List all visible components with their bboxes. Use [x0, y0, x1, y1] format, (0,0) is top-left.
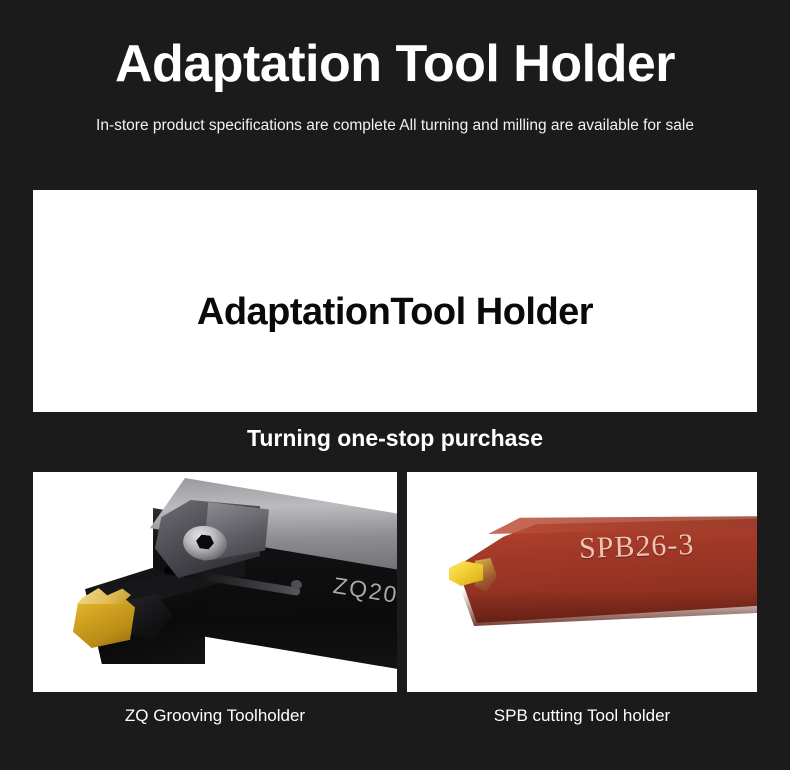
product-photo-zq: ZQ20 [33, 472, 397, 692]
product-photo-spb: SPB26-3 [407, 472, 757, 692]
product-caption-spb: SPB cutting Tool holder [407, 707, 757, 724]
mid-caption: Turning one-stop purchase [0, 427, 790, 450]
spb-toolholder-illustration: SPB26-3 [407, 472, 757, 692]
page-subtitle: In-store product specifications are comp… [0, 118, 790, 134]
feature-panel: AdaptationTool Holder [33, 190, 757, 412]
spb-engraved-marking: SPB26-3 [578, 528, 694, 566]
product-caption-zq: ZQ Grooving Toolholder [33, 707, 397, 724]
page-title: Adaptation Tool Holder [0, 38, 790, 90]
spb-bottom-shadow [461, 590, 757, 626]
product-banner: Adaptation Tool Holder In-store product … [0, 0, 790, 770]
feature-panel-headline: AdaptationTool Holder [33, 190, 757, 412]
zq-toolholder-illustration: ZQ20 [33, 472, 397, 692]
